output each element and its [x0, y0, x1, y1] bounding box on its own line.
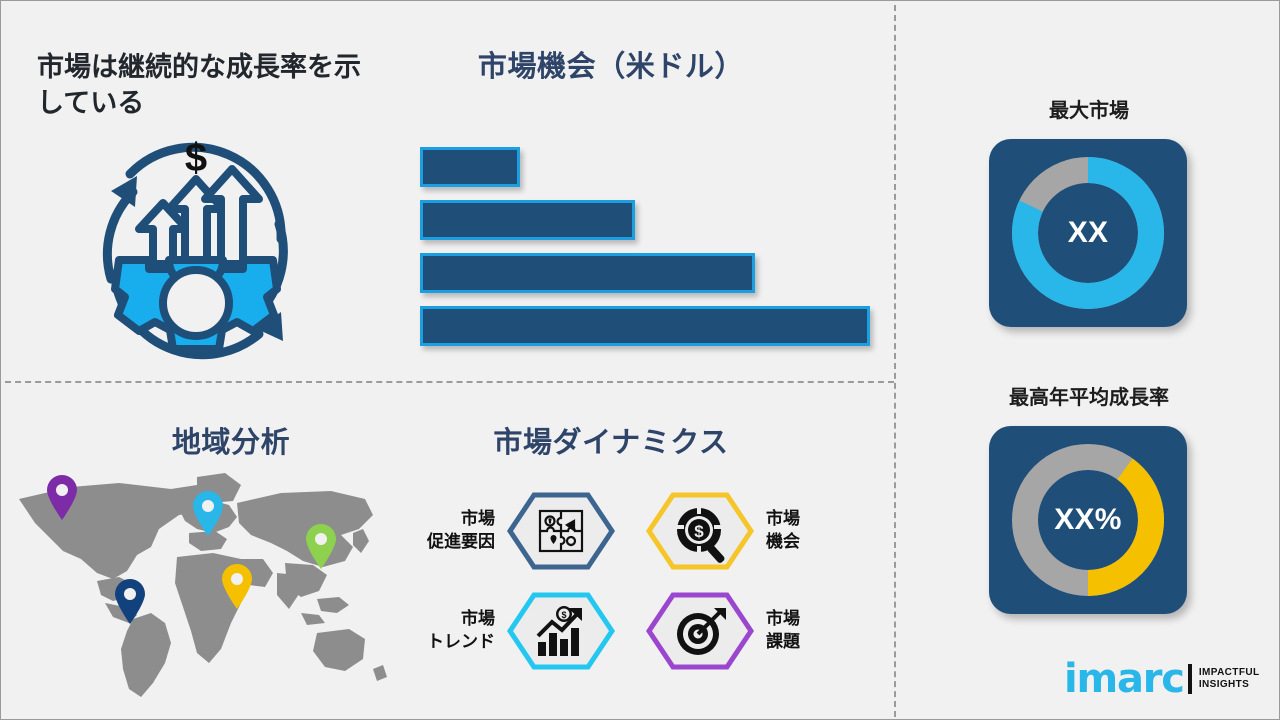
highest-cagr-heading: 最高年平均成長率 [939, 381, 1239, 410]
pin-europe [191, 490, 225, 536]
market-dynamics-title: 市場ダイナミクス [401, 425, 821, 461]
growth-headline: 市場は継続的な成長率を示している [37, 49, 377, 122]
divider-horizontal [5, 381, 894, 383]
pin-south-america [113, 578, 147, 624]
logo-separator [1188, 664, 1192, 694]
market-opportunity-bar-chart [420, 147, 880, 347]
dynamics-item-label: 市場 課題 [766, 608, 852, 654]
svg-text:$: $ [561, 610, 566, 620]
dynamics-item-opportunities[interactable]: $ 市場 機会 [646, 491, 852, 571]
pin-middle-east [220, 563, 254, 609]
dynamics-item-label: 市場 機会 [766, 508, 852, 554]
largest-market-heading: 最大市場 [939, 94, 1239, 123]
target-dart-icon [646, 592, 754, 670]
puzzle-pieces-icon [507, 492, 615, 570]
growth-gear-arrows-icon: $ [71, 129, 321, 369]
logo-tagline: IMPACTFUL INSIGHTS [1199, 667, 1260, 692]
pin-north-america [45, 474, 79, 520]
largest-market-donut-card: XX [989, 139, 1187, 327]
divider-vertical [894, 5, 896, 717]
highest-cagr-donut-card: XX% [989, 426, 1187, 614]
dynamics-item-challenges[interactable]: 市場 課題 [646, 591, 852, 671]
dynamics-item-label: 市場 促進要因 [409, 508, 495, 554]
bar-row [420, 200, 635, 240]
regional-analysis-title: 地域分析 [101, 425, 361, 461]
highest-cagr-donut [989, 426, 1187, 614]
bar-row [420, 147, 520, 187]
dollar-symbol: $ [185, 136, 207, 180]
world-map [1, 463, 401, 703]
dynamics-item-drivers[interactable]: 市場 促進要因 [409, 491, 615, 571]
svg-text:$: $ [694, 522, 704, 541]
dynamics-item-trends[interactable]: 市場 トレンド $ [409, 591, 615, 671]
bar-row [420, 253, 755, 293]
dollar-magnifier-icon: $ [646, 492, 754, 570]
pin-east-asia [304, 523, 338, 569]
logo-wordmark: imarc [1064, 659, 1184, 699]
bar-chart-arrow-icon: $ [507, 592, 615, 670]
largest-market-donut [989, 139, 1187, 327]
bar-row [420, 306, 870, 346]
infographic-slide: 市場は継続的な成長率を示している [0, 0, 1280, 720]
imarc-logo: imarc IMPACTFUL INSIGHTS [1064, 656, 1259, 702]
dynamics-item-label: 市場 トレンド [409, 608, 495, 654]
market-opportunity-title: 市場機会（米ドル） [401, 49, 821, 85]
